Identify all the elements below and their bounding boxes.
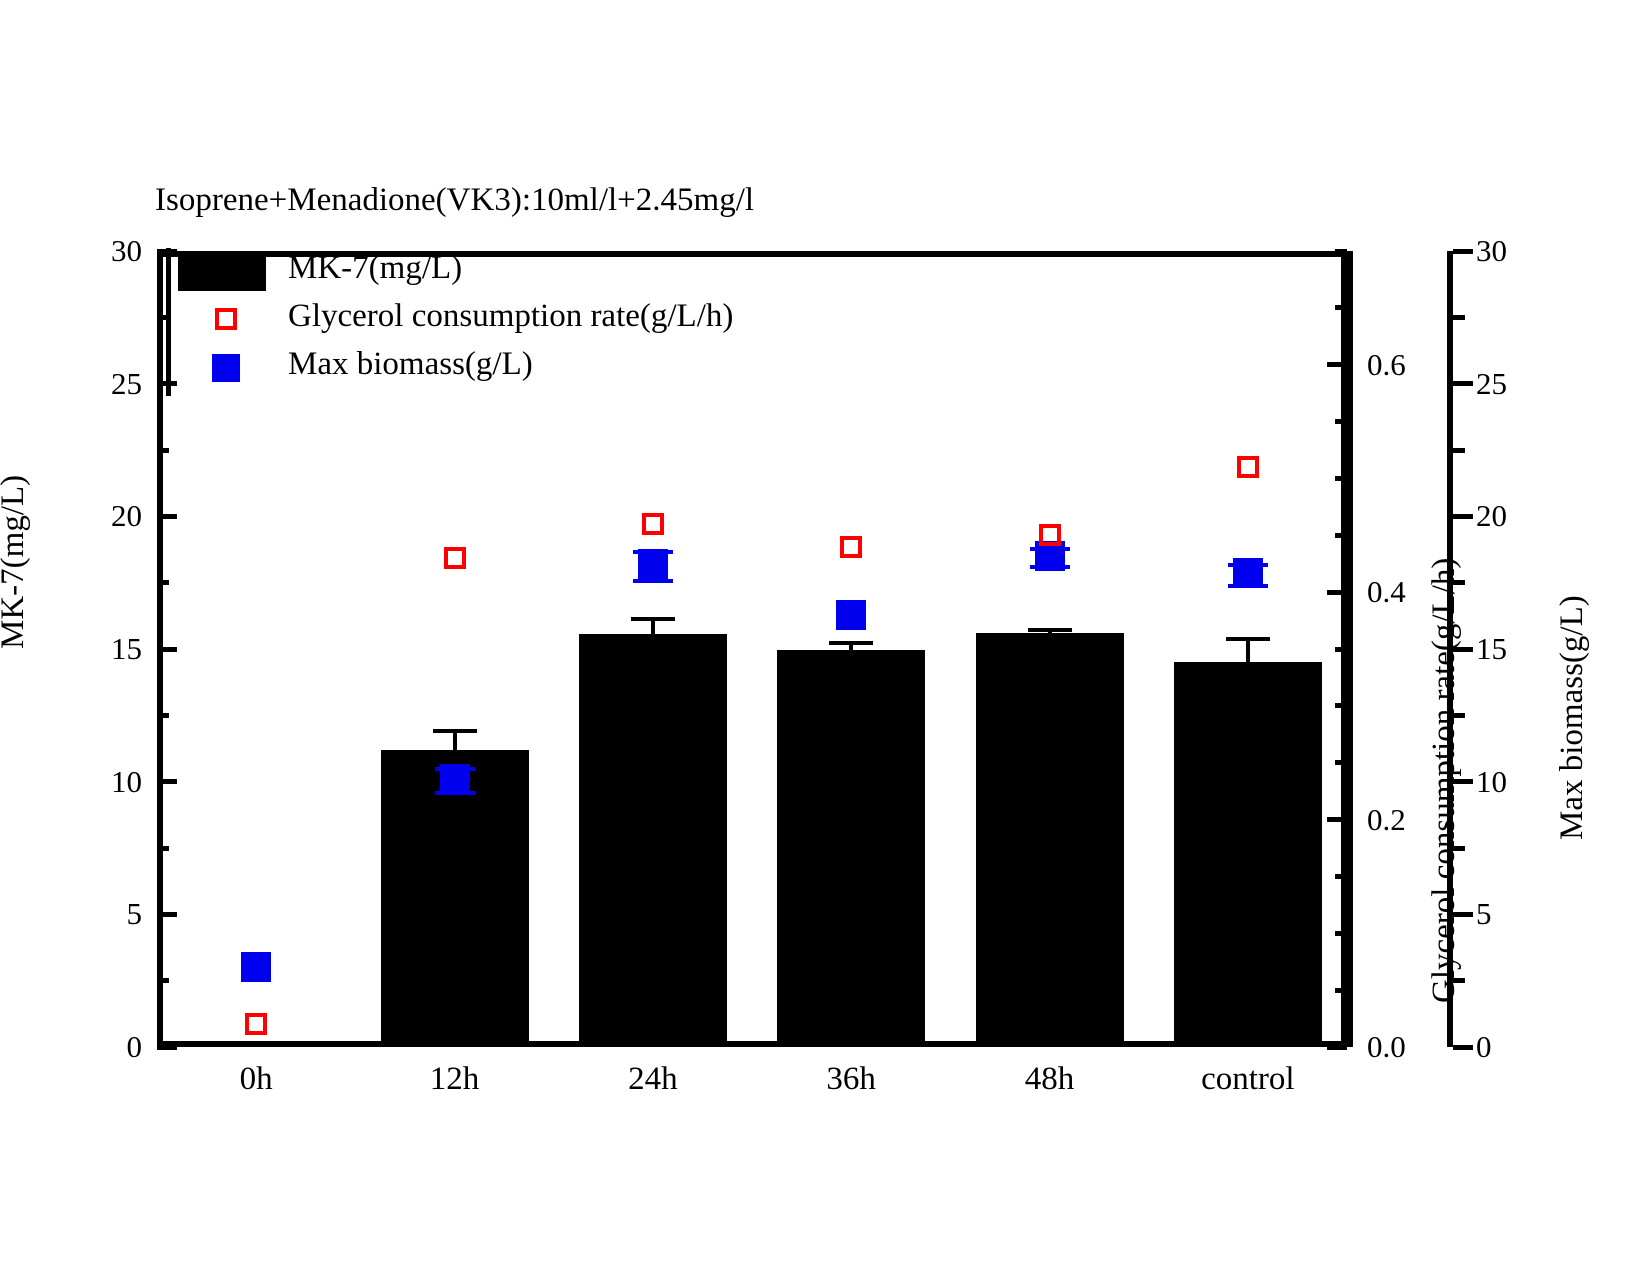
left-axis-tick-label: 25 — [60, 366, 142, 402]
biomass-axis-tick-label: 15 — [1476, 631, 1507, 667]
biomass-axis-tick-label: 25 — [1476, 366, 1507, 402]
marker-glycerol-rate — [1039, 524, 1061, 546]
chart-title: Isoprene+Menadione(VK3):10ml/l+2.45mg/l — [155, 182, 754, 219]
biomass-axis-tick-label: 0 — [1476, 1029, 1492, 1065]
biomass-axis-tick-label: 10 — [1476, 764, 1507, 800]
bar-mk7 — [1174, 662, 1322, 1047]
left-axis-tick-label: 15 — [60, 631, 142, 667]
glycerol-axis-tick-label: 0.2 — [1367, 802, 1406, 838]
legend-item-label: MK-7(mg/L) — [288, 250, 462, 287]
marker-glycerol-rate — [444, 547, 466, 569]
legend-item: MK-7(mg/L) — [170, 250, 970, 298]
glycerol-axis-tick-label: 0.4 — [1367, 574, 1406, 610]
marker-max-biomass — [241, 952, 271, 982]
marker-glycerol-rate — [245, 1013, 267, 1035]
mk7-error-cap — [433, 729, 477, 733]
y-axis-title-left: MK-7(mg/L) — [0, 475, 32, 649]
left-axis-tick-label: 10 — [60, 764, 142, 800]
biomass-axis-tick-label: 30 — [1476, 233, 1507, 269]
legend-item-label: Glycerol consumption rate(g/L/h) — [288, 298, 733, 335]
left-axis-tick-label: 0 — [60, 1029, 142, 1065]
marker-glycerol-rate — [840, 536, 862, 558]
biomass-error-cap — [633, 579, 673, 583]
bar-mk7 — [579, 634, 727, 1047]
biomass-axis-major-tick — [1453, 514, 1473, 519]
y-axis-title-glycerol: Glycerol consumption rate(g/L/h) — [1426, 558, 1463, 1003]
bar-mk7 — [976, 633, 1124, 1047]
left-axis-tick-label: 30 — [60, 233, 142, 269]
mk7-error-cap — [1226, 637, 1270, 641]
legend-swatch-bar-icon — [178, 256, 266, 291]
legend-item: Glycerol consumption rate(g/L/h) — [170, 298, 970, 346]
marker-max-biomass — [1233, 558, 1263, 588]
glycerol-axis-tick-label: 0.0 — [1367, 1029, 1406, 1065]
legend-item: Max biomass(g/L) — [170, 346, 970, 394]
chart-canvas: Isoprene+Menadione(VK3):10ml/l+2.45mg/l … — [0, 0, 1650, 1275]
marker-max-biomass — [638, 549, 668, 579]
mk7-error-cap — [829, 641, 873, 645]
biomass-axis-major-tick — [1453, 249, 1473, 254]
bar-mk7 — [777, 650, 925, 1047]
x-axis-tick-label: 24h — [628, 1061, 678, 1098]
legend-swatch-open-square-icon — [215, 308, 237, 330]
left-axis-tick-label: 20 — [60, 498, 142, 534]
glycerol-axis-tick-label: 0.6 — [1367, 347, 1406, 383]
biomass-axis-tick-label: 20 — [1476, 498, 1507, 534]
y-axis-title-biomass: Max biomass(g/L) — [1554, 595, 1591, 840]
marker-max-biomass — [440, 764, 470, 794]
biomass-axis-minor-tick — [1453, 448, 1465, 453]
marker-glycerol-rate — [642, 513, 664, 535]
bar-mk7 — [182, 1042, 330, 1047]
legend: MK-7(mg/L)Glycerol consumption rate(g/L/… — [170, 250, 970, 394]
legend-item-label: Max biomass(g/L) — [288, 346, 533, 383]
x-axis-tick-label: 0h — [240, 1061, 273, 1098]
x-axis-tick-label: control — [1201, 1061, 1294, 1098]
x-axis-tick-label: 12h — [430, 1061, 480, 1098]
biomass-axis-major-tick — [1453, 1045, 1473, 1050]
marker-max-biomass — [836, 600, 866, 630]
mk7-error-cap — [631, 617, 675, 621]
right-axis-glycerol-line — [1347, 251, 1353, 1047]
biomass-axis-tick-label: 5 — [1476, 896, 1492, 932]
mk7-error-cap — [1028, 628, 1072, 632]
legend-swatch-filled-square-icon — [212, 354, 240, 382]
marker-glycerol-rate — [1237, 456, 1259, 478]
x-axis-tick-label: 36h — [826, 1061, 876, 1098]
x-axis-tick-label: 48h — [1025, 1061, 1075, 1098]
biomass-axis-major-tick — [1453, 381, 1473, 386]
left-axis-tick-label: 5 — [60, 896, 142, 932]
biomass-axis-minor-tick — [1453, 315, 1465, 320]
